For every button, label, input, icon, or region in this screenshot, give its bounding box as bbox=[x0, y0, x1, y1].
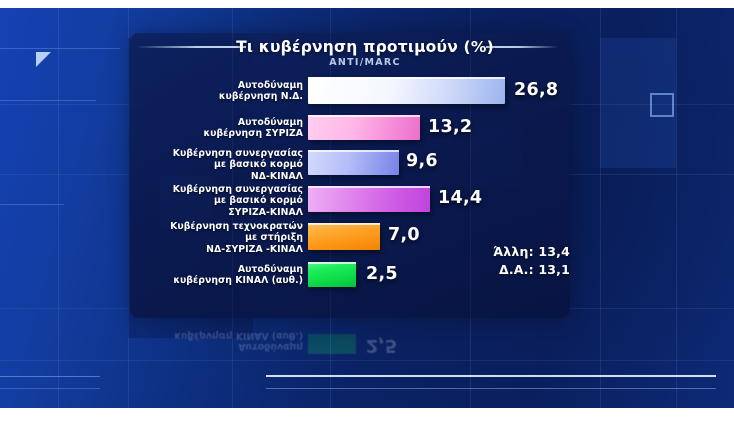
bar-value: 26,8 bbox=[514, 80, 558, 100]
bar-label-line: με βασικό κορμό bbox=[128, 159, 303, 170]
bar-label: Κυβέρνηση συνεργασίας με βασικό κορμό ΣΥ… bbox=[128, 184, 303, 218]
broadcast-poll-graphic: Τι κυβέρνηση προτιμούν (%) ANTI/MARC Αυτ… bbox=[0, 0, 734, 428]
bar-label-line: Κυβέρνηση συνεργασίας bbox=[128, 184, 303, 195]
bar-label-line: Κυβέρνηση τεχνοκρατών bbox=[128, 221, 303, 232]
background-gridline bbox=[0, 360, 734, 361]
reflection-bar bbox=[308, 334, 356, 354]
reflection-overlay: Αυτοδύναμη κυβέρνηση ΚΙΝΑΛ (αυθ.) 2,5 bbox=[0, 322, 734, 356]
triangle-marker-icon bbox=[36, 52, 51, 67]
bar-value: 7,0 bbox=[388, 225, 420, 245]
bar-label-line: ΝΔ-ΚΙΝΑΛ bbox=[128, 171, 303, 182]
note-dont-know: Δ.Α.: 13,1 bbox=[440, 261, 570, 279]
bar-label-line: ΝΔ-ΣΥΡΙΖΑ -ΚΙΝΑΛ bbox=[128, 244, 303, 255]
bar-row-6 bbox=[308, 262, 356, 287]
bar-label-line: Αυτοδύναμη bbox=[128, 117, 303, 128]
bar-value: 13,2 bbox=[428, 117, 472, 137]
reflection-value: 2,5 bbox=[366, 335, 397, 355]
bar-fill-technocrats bbox=[308, 223, 380, 250]
decor-line-bright bbox=[266, 375, 716, 377]
decor-line bbox=[0, 100, 96, 101]
bar-label: Αυτοδύναμη κυβέρνηση ΣΥΡΙΖΑ bbox=[128, 117, 303, 140]
decor-line bbox=[266, 388, 716, 389]
bar-value: 14,4 bbox=[438, 188, 482, 208]
decor-line bbox=[0, 376, 100, 377]
bar-label-line: κυβέρνηση ΣΥΡΙΖΑ bbox=[128, 128, 303, 139]
chart-title-row: Τι κυβέρνηση προτιμούν (%) bbox=[130, 36, 600, 58]
bar-label: Αυτοδύναμη κυβέρνηση ΚΙΝΑΛ (αυθ.) bbox=[128, 264, 303, 287]
bar-fill-nd-kinal bbox=[308, 150, 399, 175]
bar-fill-kinal bbox=[308, 262, 356, 287]
bar-label: Κυβέρνηση τεχνοκρατών με στήριξη ΝΔ-ΣΥΡΙ… bbox=[128, 221, 303, 255]
bar-row-2 bbox=[308, 115, 420, 140]
bar-value: 2,5 bbox=[366, 264, 398, 284]
reflection-label-line: κυβέρνηση ΚΙΝΑΛ (αυθ.) bbox=[128, 329, 303, 340]
bar-row-4 bbox=[308, 186, 430, 212]
chart-subtitle: ANTI/MARC bbox=[130, 57, 600, 68]
bar-label-line: κυβέρνηση ΚΙΝΑΛ (αυθ.) bbox=[128, 275, 303, 286]
bar-label-line: ΣΥΡΙΖΑ-ΚΙΝΑΛ bbox=[128, 207, 303, 218]
bar-label-line: Αυτοδύναμη bbox=[128, 264, 303, 275]
bar-value: 9,6 bbox=[406, 151, 438, 171]
bar-fill-syriza bbox=[308, 115, 420, 140]
chart-title: Τι κυβέρνηση προτιμούν (%) bbox=[236, 38, 494, 56]
bar-row-1 bbox=[308, 77, 505, 104]
decor-line bbox=[0, 204, 64, 205]
bar-row-3 bbox=[308, 150, 399, 175]
bar-label-line: Αυτοδύναμη bbox=[128, 80, 303, 91]
bar-label-line: με βασικό κορμό bbox=[128, 195, 303, 206]
reflection-label: Αυτοδύναμη κυβέρνηση ΚΙΝΑΛ (αυθ.) bbox=[128, 329, 303, 352]
bar-label-line: Κυβέρνηση συνεργασίας bbox=[128, 148, 303, 159]
bar-label-line: κυβέρνηση Ν.Δ. bbox=[128, 91, 303, 102]
bar-label-line: με στήριξη bbox=[128, 232, 303, 243]
square-marker-icon bbox=[650, 93, 674, 117]
bar-fill-syriza-kinal bbox=[308, 186, 430, 212]
bar-label: Αυτοδύναμη κυβέρνηση Ν.Δ. bbox=[128, 80, 303, 103]
decor-line bbox=[0, 48, 120, 49]
bar-fill-nd bbox=[308, 77, 505, 104]
bar-row-5 bbox=[308, 223, 380, 250]
note-other: Άλλη: 13,4 bbox=[440, 243, 570, 261]
reflection-label-line: Αυτοδύναμη bbox=[128, 341, 303, 352]
decor-line bbox=[0, 388, 100, 389]
side-notes: Άλλη: 13,4 Δ.Α.: 13,1 bbox=[440, 243, 570, 279]
bar-label: Κυβέρνηση συνεργασίας με βασικό κορμό ΝΔ… bbox=[128, 148, 303, 182]
